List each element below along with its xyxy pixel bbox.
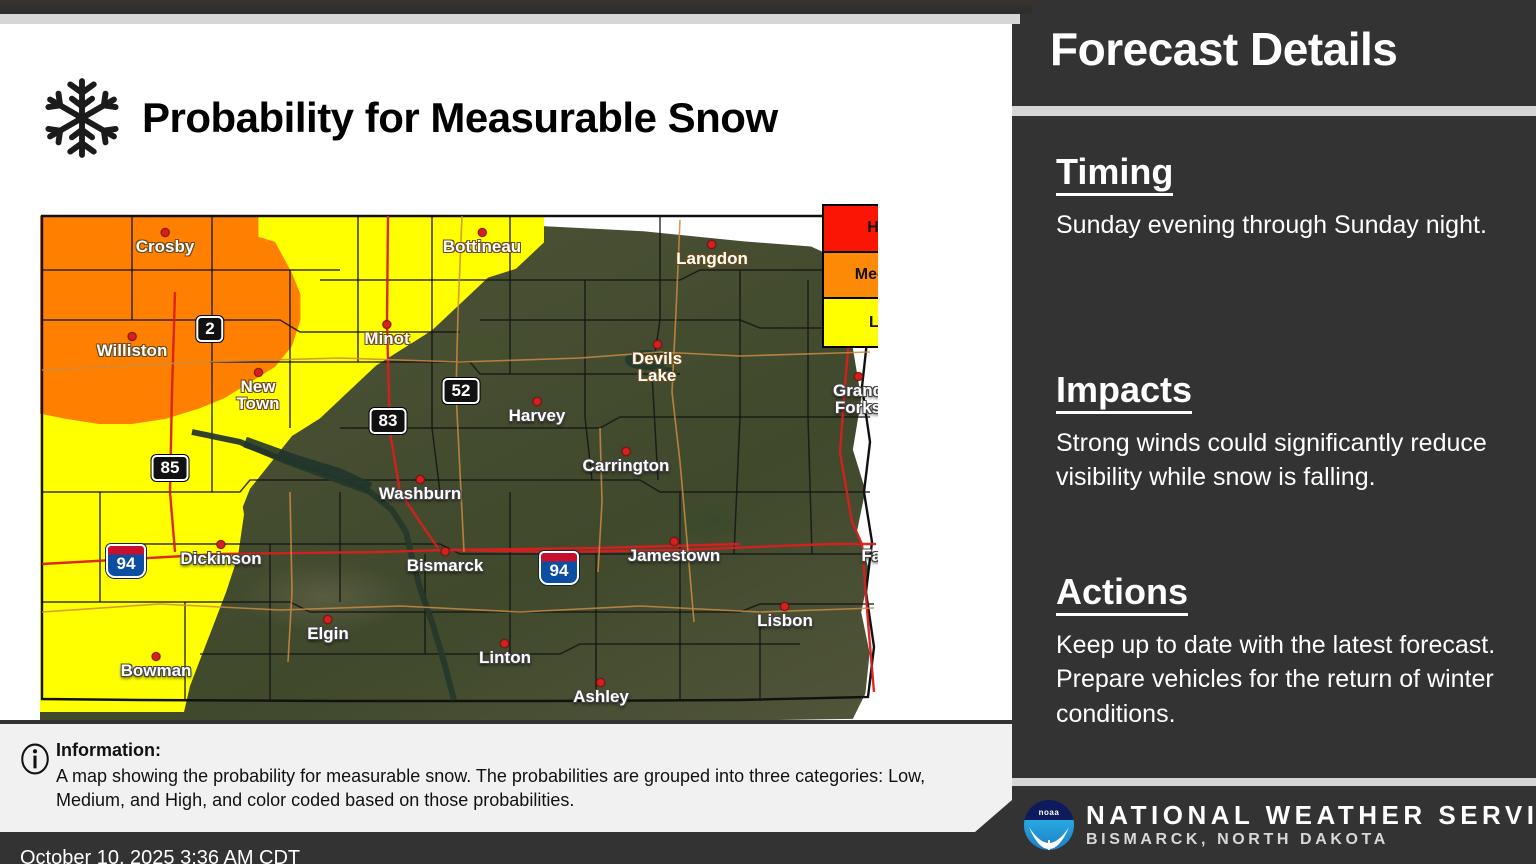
city-label: Minot bbox=[364, 330, 409, 347]
section-timing-body: Sunday evening through Sunday night. bbox=[1056, 208, 1526, 243]
noaa-bird-icon bbox=[1028, 824, 1070, 850]
city-dot-icon bbox=[707, 240, 716, 249]
city-label: Ashley bbox=[573, 688, 629, 705]
section-actions-heading: Actions bbox=[1056, 572, 1188, 616]
city-marker: Bottineau bbox=[443, 228, 521, 255]
info-icon bbox=[18, 742, 52, 776]
section-impacts-body: Strong winds could significantly reduce … bbox=[1056, 426, 1526, 495]
noaa-seal-icon: noaa bbox=[1024, 800, 1074, 850]
city-label: Bottineau bbox=[443, 238, 521, 255]
city-label: Langdon bbox=[676, 250, 748, 267]
legend-row-medium: Medium bbox=[824, 253, 878, 300]
city-marker: Carrington bbox=[583, 447, 670, 474]
city-marker: Crosby bbox=[136, 228, 195, 255]
city-dot-icon bbox=[781, 602, 790, 611]
city-label: Crosby bbox=[136, 238, 195, 255]
city-dot-icon bbox=[160, 228, 169, 237]
legend-bars: High Medium Low bbox=[822, 204, 878, 348]
city-label: Williston bbox=[97, 342, 168, 359]
city-marker: Bowman bbox=[121, 652, 192, 679]
forecast-details-body: Timing Sunday evening through Sunday nig… bbox=[1030, 130, 1536, 770]
city-dot-icon bbox=[441, 547, 450, 556]
us-highway-shield-icon: 52 bbox=[443, 378, 480, 404]
map-title-group: Probability for Measurable Snow bbox=[36, 76, 778, 160]
city-marker: Jamestown bbox=[628, 537, 721, 564]
map-inner: High Medium Low 100% 70% 40% 10% CrosbyB… bbox=[40, 192, 878, 724]
city-label: Elgin bbox=[307, 625, 349, 642]
city-label: Lisbon bbox=[757, 612, 813, 629]
city-dot-icon bbox=[500, 639, 509, 648]
city-label: Washburn bbox=[379, 485, 461, 502]
information-box: Information: A map showing the probabili… bbox=[0, 724, 1012, 832]
city-marker: Grand Forks bbox=[820, 372, 878, 417]
city-marker: Linton bbox=[479, 639, 531, 666]
city-dot-icon bbox=[477, 228, 486, 237]
city-marker: New Town bbox=[220, 368, 296, 413]
nws-office-name: BISMARCK, NORTH DAKOTA bbox=[1086, 830, 1536, 849]
left-column: Probability for Measurable Snow bbox=[0, 24, 1012, 864]
city-marker: Lisbon bbox=[757, 602, 813, 629]
nws-text-group: NATIONAL WEATHER SERVICE BISMARCK, NORTH… bbox=[1086, 801, 1536, 849]
right-column: Forecast Details Timing Sunday evening t… bbox=[1012, 0, 1536, 864]
footer-separator bbox=[1012, 778, 1536, 786]
city-label: Carrington bbox=[583, 457, 670, 474]
section-actions: Actions Keep up to date with the latest … bbox=[1056, 572, 1526, 731]
city-marker: Elgin bbox=[307, 615, 349, 642]
forecast-graphic: Probability for Measurable Snow bbox=[0, 0, 1536, 864]
information-title: Information: bbox=[56, 740, 161, 761]
city-dot-icon bbox=[621, 447, 630, 456]
city-dot-icon bbox=[324, 615, 333, 624]
city-label: Devils Lake bbox=[619, 350, 695, 385]
us-highway-shield-icon: 85 bbox=[152, 455, 189, 481]
city-label: Bismarck bbox=[407, 557, 484, 574]
city-label: Dickinson bbox=[180, 550, 261, 567]
header-separator bbox=[1012, 106, 1536, 116]
city-marker: Langdon bbox=[676, 240, 748, 267]
city-label: Linton bbox=[479, 649, 531, 666]
timestamp-text: October 10, 2025 3:36 AM CDT bbox=[20, 847, 300, 864]
city-dot-icon bbox=[128, 332, 137, 341]
interstate-shield-icon: 94 bbox=[106, 544, 146, 578]
section-actions-body: Keep up to date with the latest forecast… bbox=[1056, 628, 1526, 732]
section-timing-heading: Timing bbox=[1056, 152, 1173, 196]
city-label: Grand Forks bbox=[820, 382, 878, 417]
snowflake-icon bbox=[36, 76, 128, 160]
nws-agency-name: NATIONAL WEATHER SERVICE bbox=[1086, 801, 1536, 830]
city-marker: Ashley bbox=[573, 678, 629, 705]
city-dot-icon bbox=[217, 540, 226, 549]
information-body: A map showing the probability for measur… bbox=[56, 764, 956, 813]
timestamp-bar: October 10, 2025 3:36 AM CDT bbox=[0, 836, 1012, 864]
map-card: Probability for Measurable Snow bbox=[0, 24, 1012, 720]
nws-footer: noaa NATIONAL WEATHER SERVICE BISMARCK, … bbox=[1012, 786, 1536, 864]
legend: High Medium Low 100% 70% 40% 10% bbox=[822, 200, 878, 355]
city-label: Bowman bbox=[121, 662, 192, 679]
legend-row-high: High bbox=[824, 206, 878, 253]
page-title: Probability for Measurable Snow bbox=[142, 97, 778, 139]
city-marker: Dickinson bbox=[180, 540, 261, 567]
city-dot-icon bbox=[653, 340, 662, 349]
city-label: Fargo bbox=[861, 547, 878, 564]
snow-probability-map[interactable]: High Medium Low 100% 70% 40% 10% CrosbyB… bbox=[40, 192, 878, 724]
city-dot-icon bbox=[415, 475, 424, 484]
city-marker: Minot bbox=[364, 320, 409, 347]
us-highway-shield-icon: 83 bbox=[370, 408, 407, 434]
city-dot-icon bbox=[597, 678, 606, 687]
city-dot-icon bbox=[382, 320, 391, 329]
section-impacts: Impacts Strong winds could significantly… bbox=[1056, 370, 1526, 495]
city-dot-icon bbox=[670, 537, 679, 546]
city-dot-icon bbox=[152, 652, 161, 661]
city-marker: Bismarck bbox=[407, 547, 484, 574]
us-highway-shield-icon: 2 bbox=[196, 316, 223, 342]
forecast-details-title: Forecast Details bbox=[1050, 22, 1397, 76]
interstate-shield-icon: 94 bbox=[539, 551, 579, 585]
top-strip-light bbox=[0, 14, 1020, 24]
city-dot-icon bbox=[254, 368, 263, 377]
city-marker: Devils Lake bbox=[619, 340, 695, 385]
city-marker: Harvey bbox=[509, 397, 566, 424]
section-impacts-heading: Impacts bbox=[1056, 370, 1192, 414]
noaa-seal-text: noaa bbox=[1024, 808, 1074, 817]
section-timing: Timing Sunday evening through Sunday nig… bbox=[1056, 152, 1526, 242]
city-dot-icon bbox=[533, 397, 542, 406]
city-marker: Fargo bbox=[861, 537, 878, 564]
city-marker: Washburn bbox=[379, 475, 461, 502]
legend-row-low: Low bbox=[824, 299, 878, 346]
city-label: Jamestown bbox=[628, 547, 721, 564]
city-label: Harvey bbox=[509, 407, 566, 424]
city-label: New Town bbox=[220, 378, 296, 413]
city-marker: Williston bbox=[97, 332, 168, 359]
city-dot-icon bbox=[854, 372, 863, 381]
